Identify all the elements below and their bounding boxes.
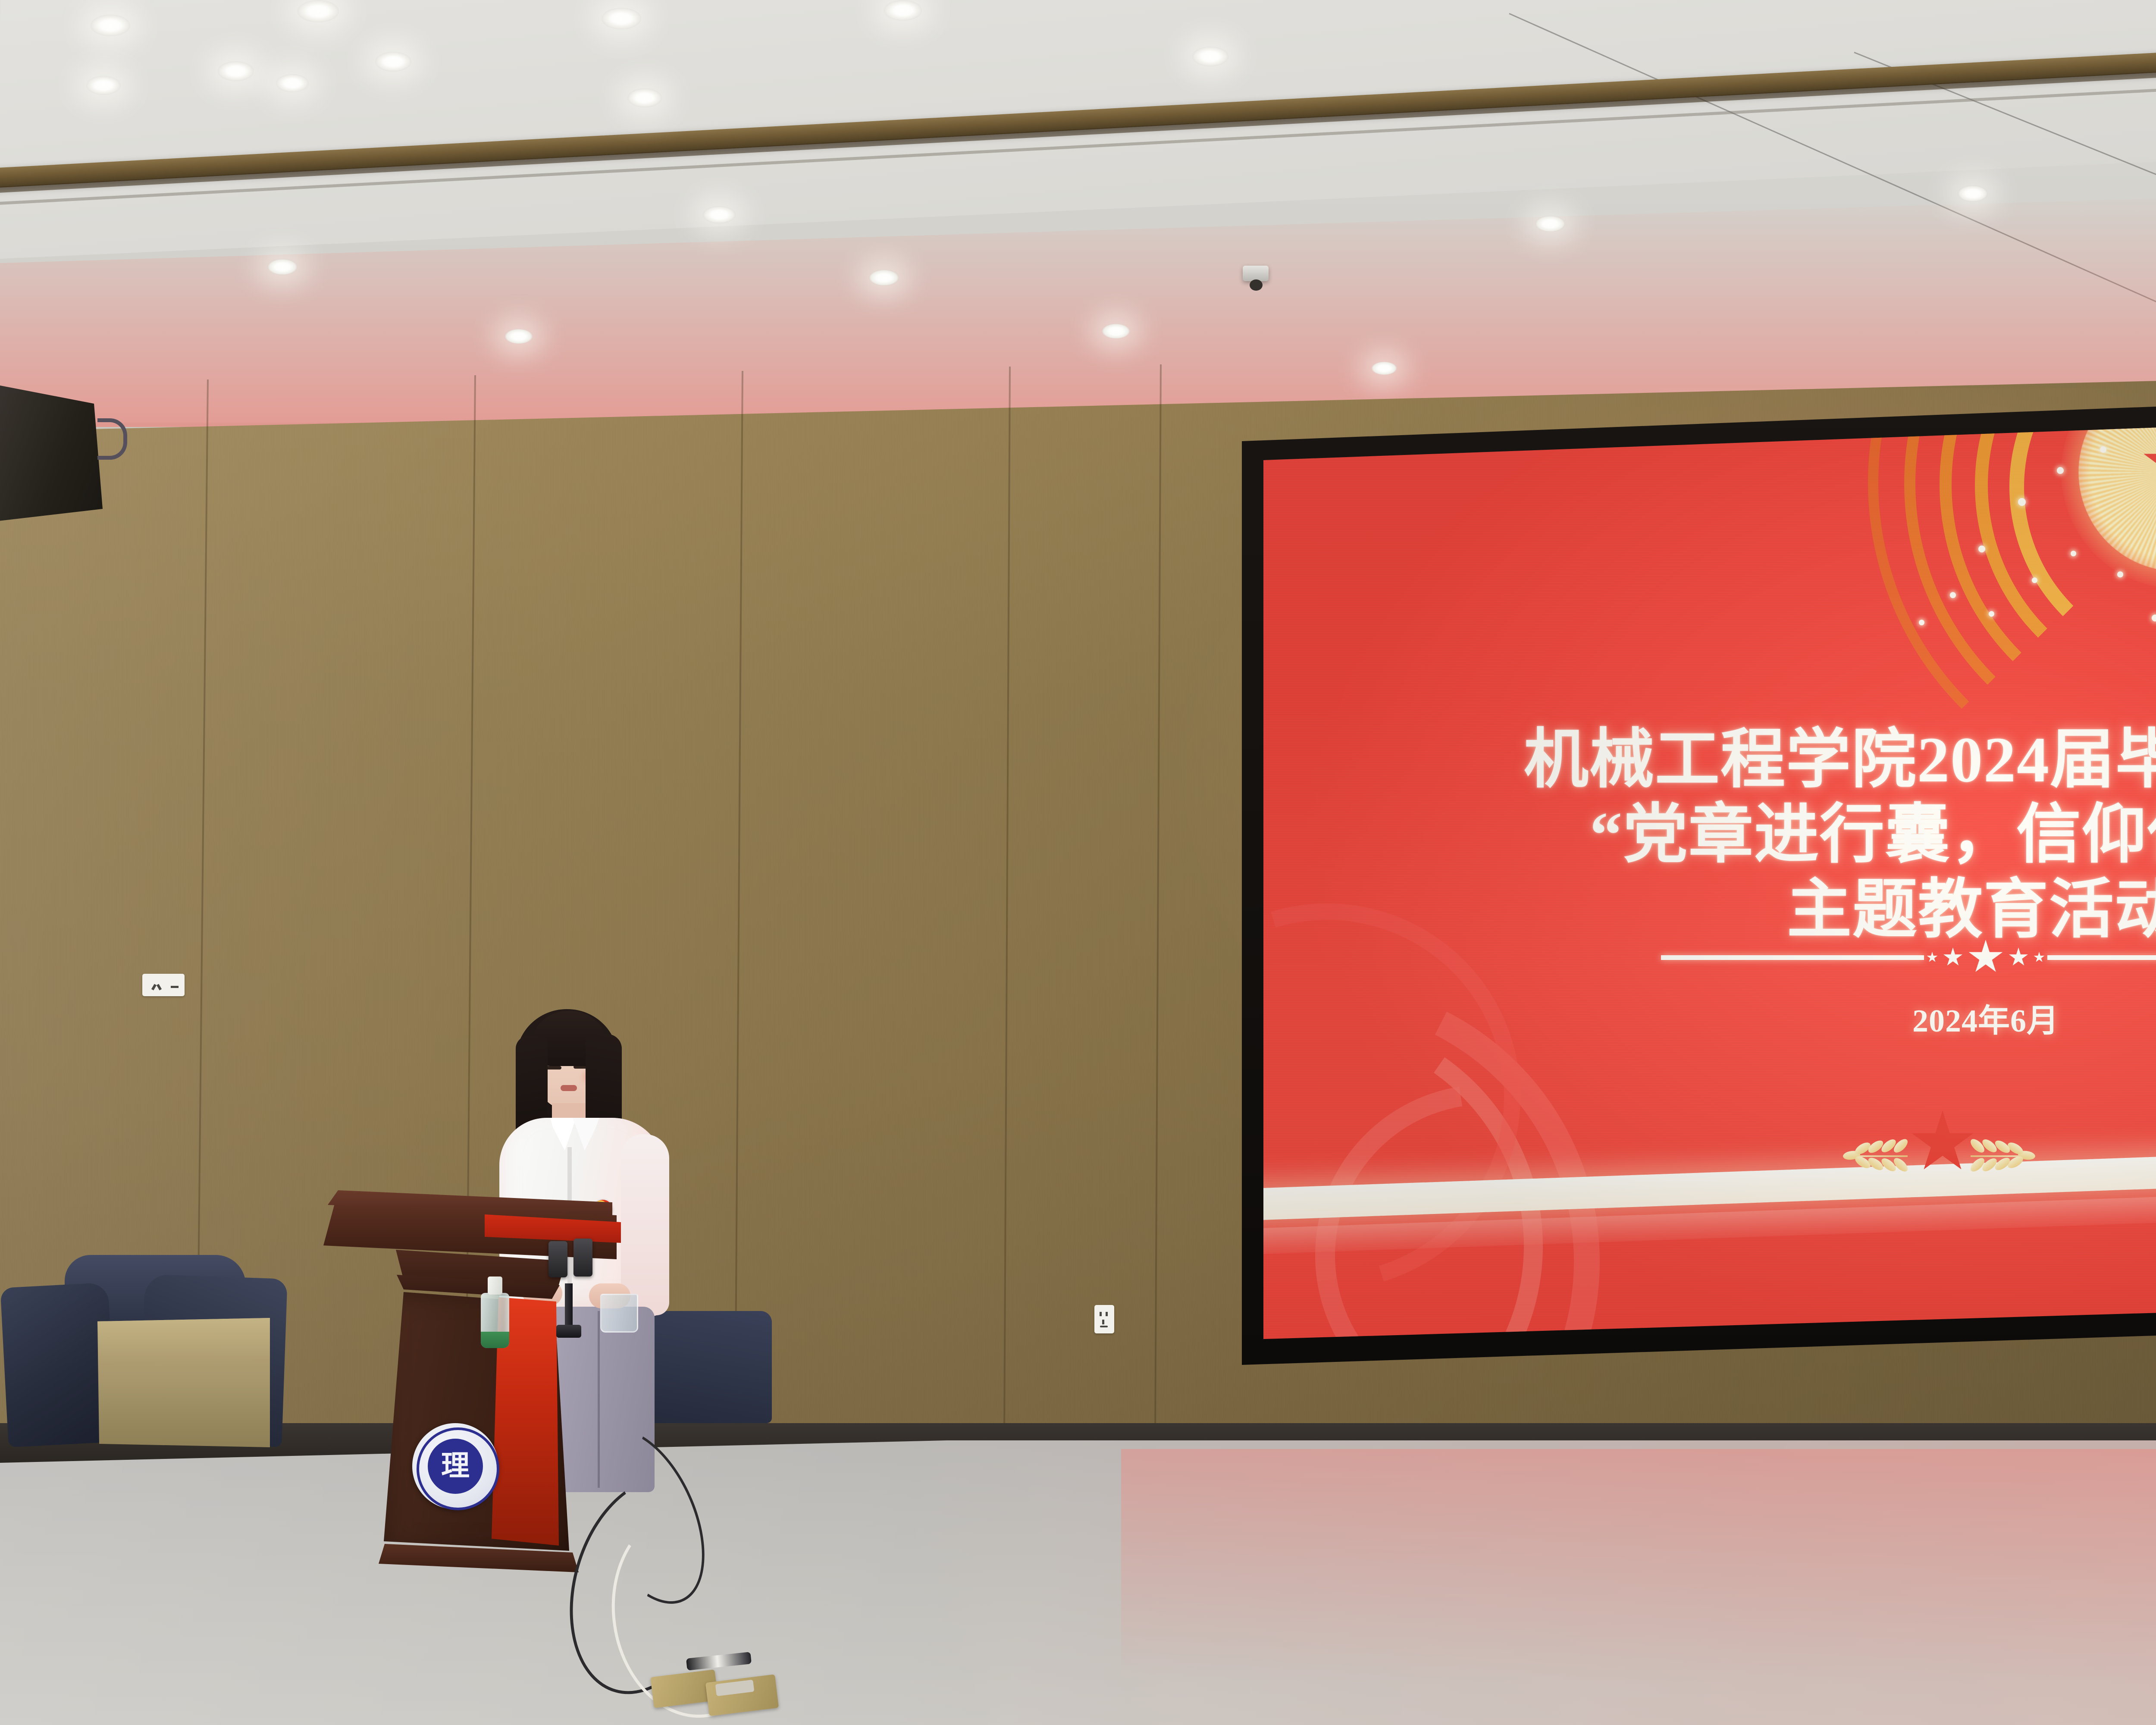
photograph-scene: 机械工程学院2024届毕业生党员 “党章进行囊，信仰伴远行” 主题教育活动 20… — [0, 0, 2156, 1725]
loudspeaker-bracket — [97, 418, 127, 460]
led-screen[interactable]: 机械工程学院2024届毕业生党员 “党章进行囊，信仰伴远行” 主题教育活动 20… — [1263, 412, 2156, 1339]
screen-vignette — [1263, 412, 2156, 1339]
ceiling-downlight — [1535, 216, 1565, 232]
ceiling-downlight — [298, 0, 339, 22]
cardboard-box-flap — [97, 1318, 270, 1365]
ceiling-downlight — [1102, 323, 1130, 339]
ceiling-downlight — [267, 259, 298, 275]
ceiling-downlight — [1371, 361, 1397, 375]
microphone-capsule — [548, 1241, 567, 1277]
ceiling-downlight — [1958, 185, 1988, 202]
microphone-capsule — [573, 1239, 592, 1276]
ceiling-downlight — [276, 74, 309, 92]
ceiling-downlight — [1192, 47, 1228, 66]
security-camera-lens — [1250, 279, 1263, 291]
ceiling-downlight — [884, 0, 922, 21]
ceiling-downlight — [505, 329, 533, 344]
security-camera — [1243, 266, 1269, 281]
ceiling-downlight — [703, 206, 736, 223]
ceiling-downlight — [869, 270, 899, 286]
bottle-label — [481, 1332, 509, 1348]
drinking-cup — [600, 1294, 638, 1333]
ceiling-downlight — [218, 61, 254, 81]
ceiling-downlight — [91, 15, 130, 36]
ceiling-downlight — [627, 88, 662, 107]
microphone-base — [556, 1325, 581, 1338]
mouth — [561, 1085, 577, 1091]
floor-sheen — [0, 1440, 2156, 1725]
bottle-cap — [488, 1276, 502, 1295]
ceiling-downlight — [375, 52, 411, 72]
water-bottle — [481, 1275, 509, 1348]
ceiling-downlight — [602, 8, 641, 29]
wall-outlet[interactable] — [142, 974, 185, 996]
podium-emblem-glyph: 理 — [428, 1444, 483, 1489]
right-arm — [621, 1134, 669, 1315]
wall-loudspeaker — [0, 384, 108, 522]
